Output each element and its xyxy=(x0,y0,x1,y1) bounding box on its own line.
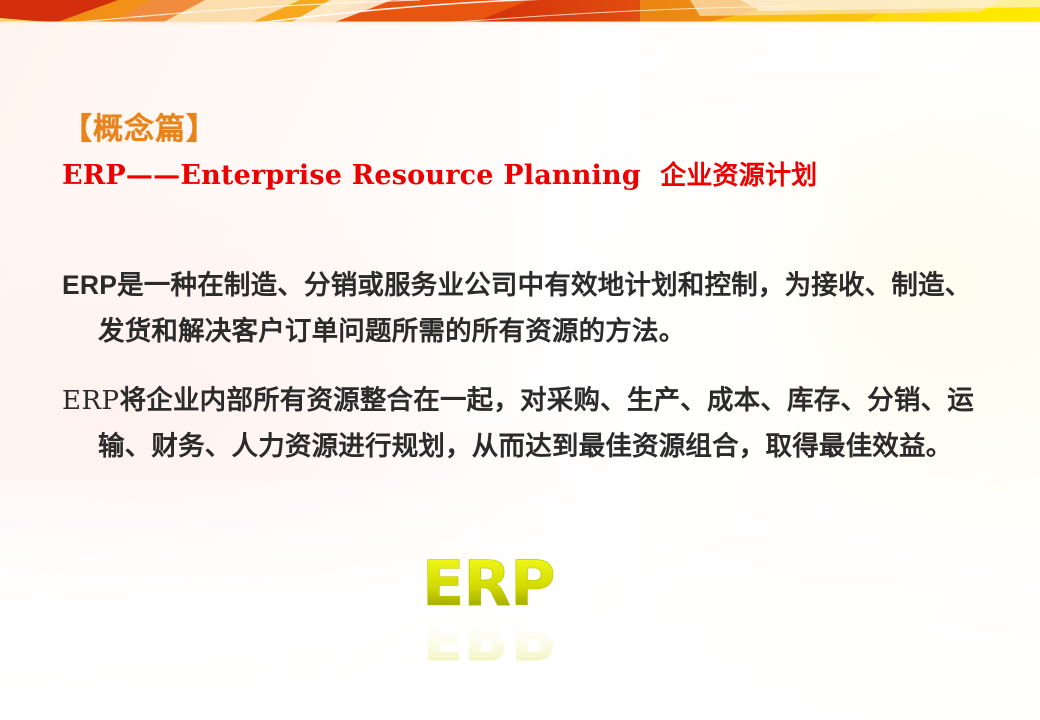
paragraph-2-body: ERP将企业内部所有资源整合在一起，对采购、生产、成本、库存、分销、运输、财务、… xyxy=(62,378,992,470)
erp-wordart-reflection: ERP xyxy=(422,600,555,673)
headline-latin: ERP——Enterprise Resource Planning xyxy=(62,160,641,191)
slide-canvas: 【概念篇】 ERP——Enterprise Resource Planning … xyxy=(0,0,1040,720)
paragraph-1-body: ERP是一种在制造、分销或服务业公司中有效地计划和控制，为接收、制造、发货和解决… xyxy=(62,262,992,355)
erp-wordart-graphic: ERP ERP xyxy=(416,548,616,678)
erp-wordart-logo: ERP ERP xyxy=(416,548,616,678)
paragraph-2-line3: 源组合，取得最佳效益。 xyxy=(659,431,953,462)
slide-content: 【概念篇】 ERP——Enterprise Resource Planning … xyxy=(0,0,1040,720)
paragraph-2-lead: ERP xyxy=(62,386,120,416)
paragraph-2: ERP将企业内部所有资源整合在一起，对采购、生产、成本、库存、分销、运输、财务、… xyxy=(62,378,992,470)
headline-cjk: 企业资源计划 xyxy=(660,161,817,191)
section-title: 【概念篇】 xyxy=(62,104,217,148)
paragraph-1: ERP是一种在制造、分销或服务业公司中有效地计划和控制，为接收、制造、发货和解决… xyxy=(62,262,992,355)
paragraph-1-lead: ERP xyxy=(62,270,117,300)
headline: ERP——Enterprise Resource Planning 企业资源计划 xyxy=(62,155,817,192)
paragraph-1-line1: 是一种在制造、分销或服务业公司中有效地计划和控制，为 xyxy=(117,270,811,301)
paragraph-2-line1: 将企业内部所有资源整合在一起，对采购、生产、成本、库 xyxy=(120,385,814,416)
erp-wordart-reflection-text: ERP xyxy=(422,600,555,673)
